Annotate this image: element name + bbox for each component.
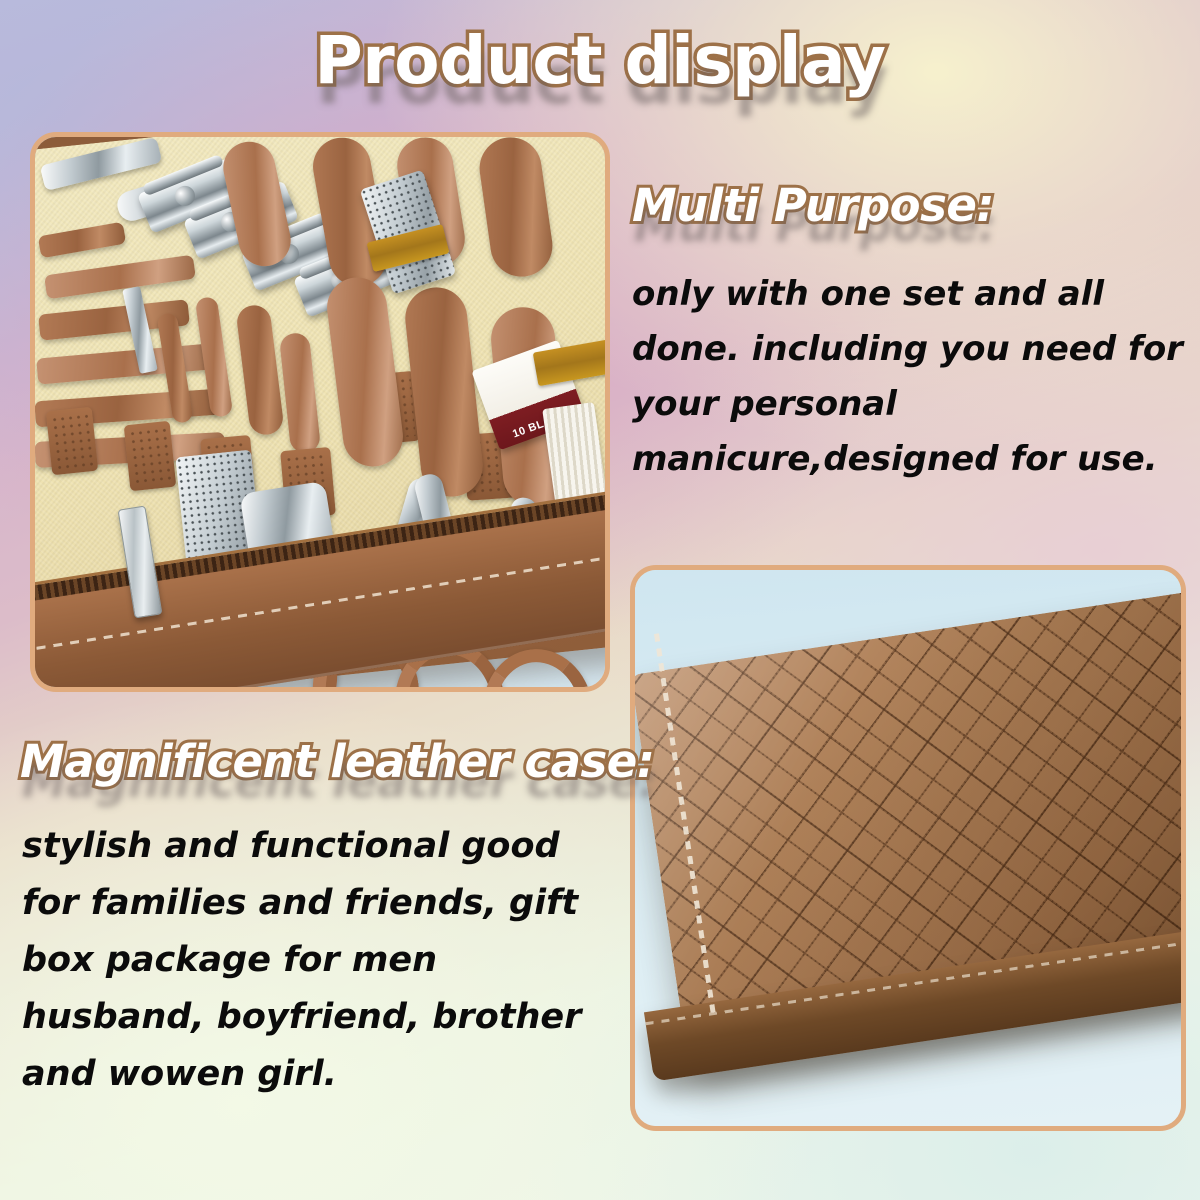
leather-case-body: stylish and functional good for families…	[22, 818, 612, 1103]
leather-strap-2	[124, 421, 177, 491]
multi-purpose-heading: Multi Purpose:	[632, 179, 994, 232]
leather-case-photo-panel	[630, 565, 1186, 1131]
multi-purpose-body: only with one set and all done. includin…	[632, 267, 1192, 487]
manicure-kit-photo-panel: 10 BLADE	[30, 132, 610, 692]
page-title: Product display	[0, 22, 1200, 99]
manicure-kit-image: 10 BLADE	[35, 137, 605, 687]
product-display-page: Product display	[0, 0, 1200, 1200]
leather-case-image	[635, 570, 1181, 1126]
leather-strap-1	[46, 407, 98, 475]
leather-case-heading: Magnificent leather case:	[20, 735, 654, 788]
